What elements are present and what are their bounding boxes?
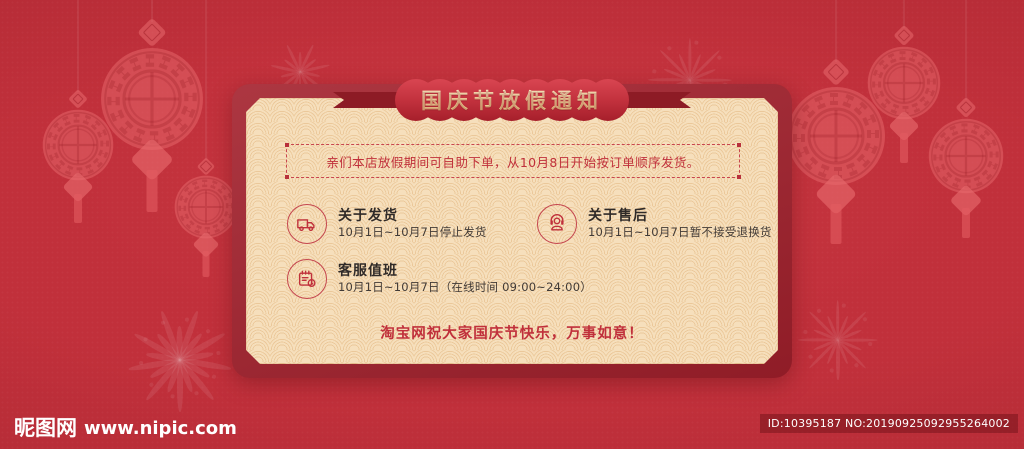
info-item-title: 关于发货 [338, 208, 487, 224]
greeting-text: 淘宝网祝大家国庆节快乐，万事如意！ [246, 322, 778, 343]
notice-strip: 亲们本店放假期间可自助下单，从10月8日开始按订单顺序发货。 [286, 144, 740, 178]
info-item-aftersales: 关于售后 10月1日~10月7日暂不接受退换货 [537, 204, 772, 244]
info-item-subtitle: 10月1日~10月7日暂不接受退换货 [588, 226, 772, 239]
info-item-title: 关于售后 [588, 208, 772, 224]
info-item-subtitle: 10月1日~10月7日（在线时间 09:00~24:00） [338, 281, 592, 294]
watermark-url: www.nipic.com [84, 420, 237, 439]
notice-text: 亲们本店放假期间可自助下单，从10月8日开始按订单顺序发货。 [326, 152, 699, 171]
page-title: 国庆节放假通知 [421, 85, 603, 115]
banner-canvas: 国庆节放假通知 亲们本店放假期间可自助下单，从10月8日开始按订单顺序发货。 关… [0, 0, 1024, 449]
watermark-logo: 昵图网 [14, 418, 77, 439]
corner-marker [285, 143, 289, 147]
calendar-clock-icon [287, 259, 327, 299]
info-item-duty: 客服值班 10月1日~10月7日（在线时间 09:00~24:00） [287, 259, 592, 299]
title-badge: 国庆节放假通知 [395, 78, 629, 122]
headset-icon [537, 204, 577, 244]
truck-icon [287, 204, 327, 244]
info-item-title: 客服值班 [338, 263, 592, 279]
corner-marker [737, 143, 741, 147]
corner-marker [737, 175, 741, 179]
info-item-shipping: 关于发货 10月1日~10月7日停止发货 [287, 204, 487, 244]
info-item-subtitle: 10月1日~10月7日停止发货 [338, 226, 487, 239]
corner-marker [285, 175, 289, 179]
watermark: 昵图网 www.nipic.com [14, 418, 237, 439]
image-id-label: ID:10395187 NO:20190925092955264002 [760, 414, 1018, 433]
